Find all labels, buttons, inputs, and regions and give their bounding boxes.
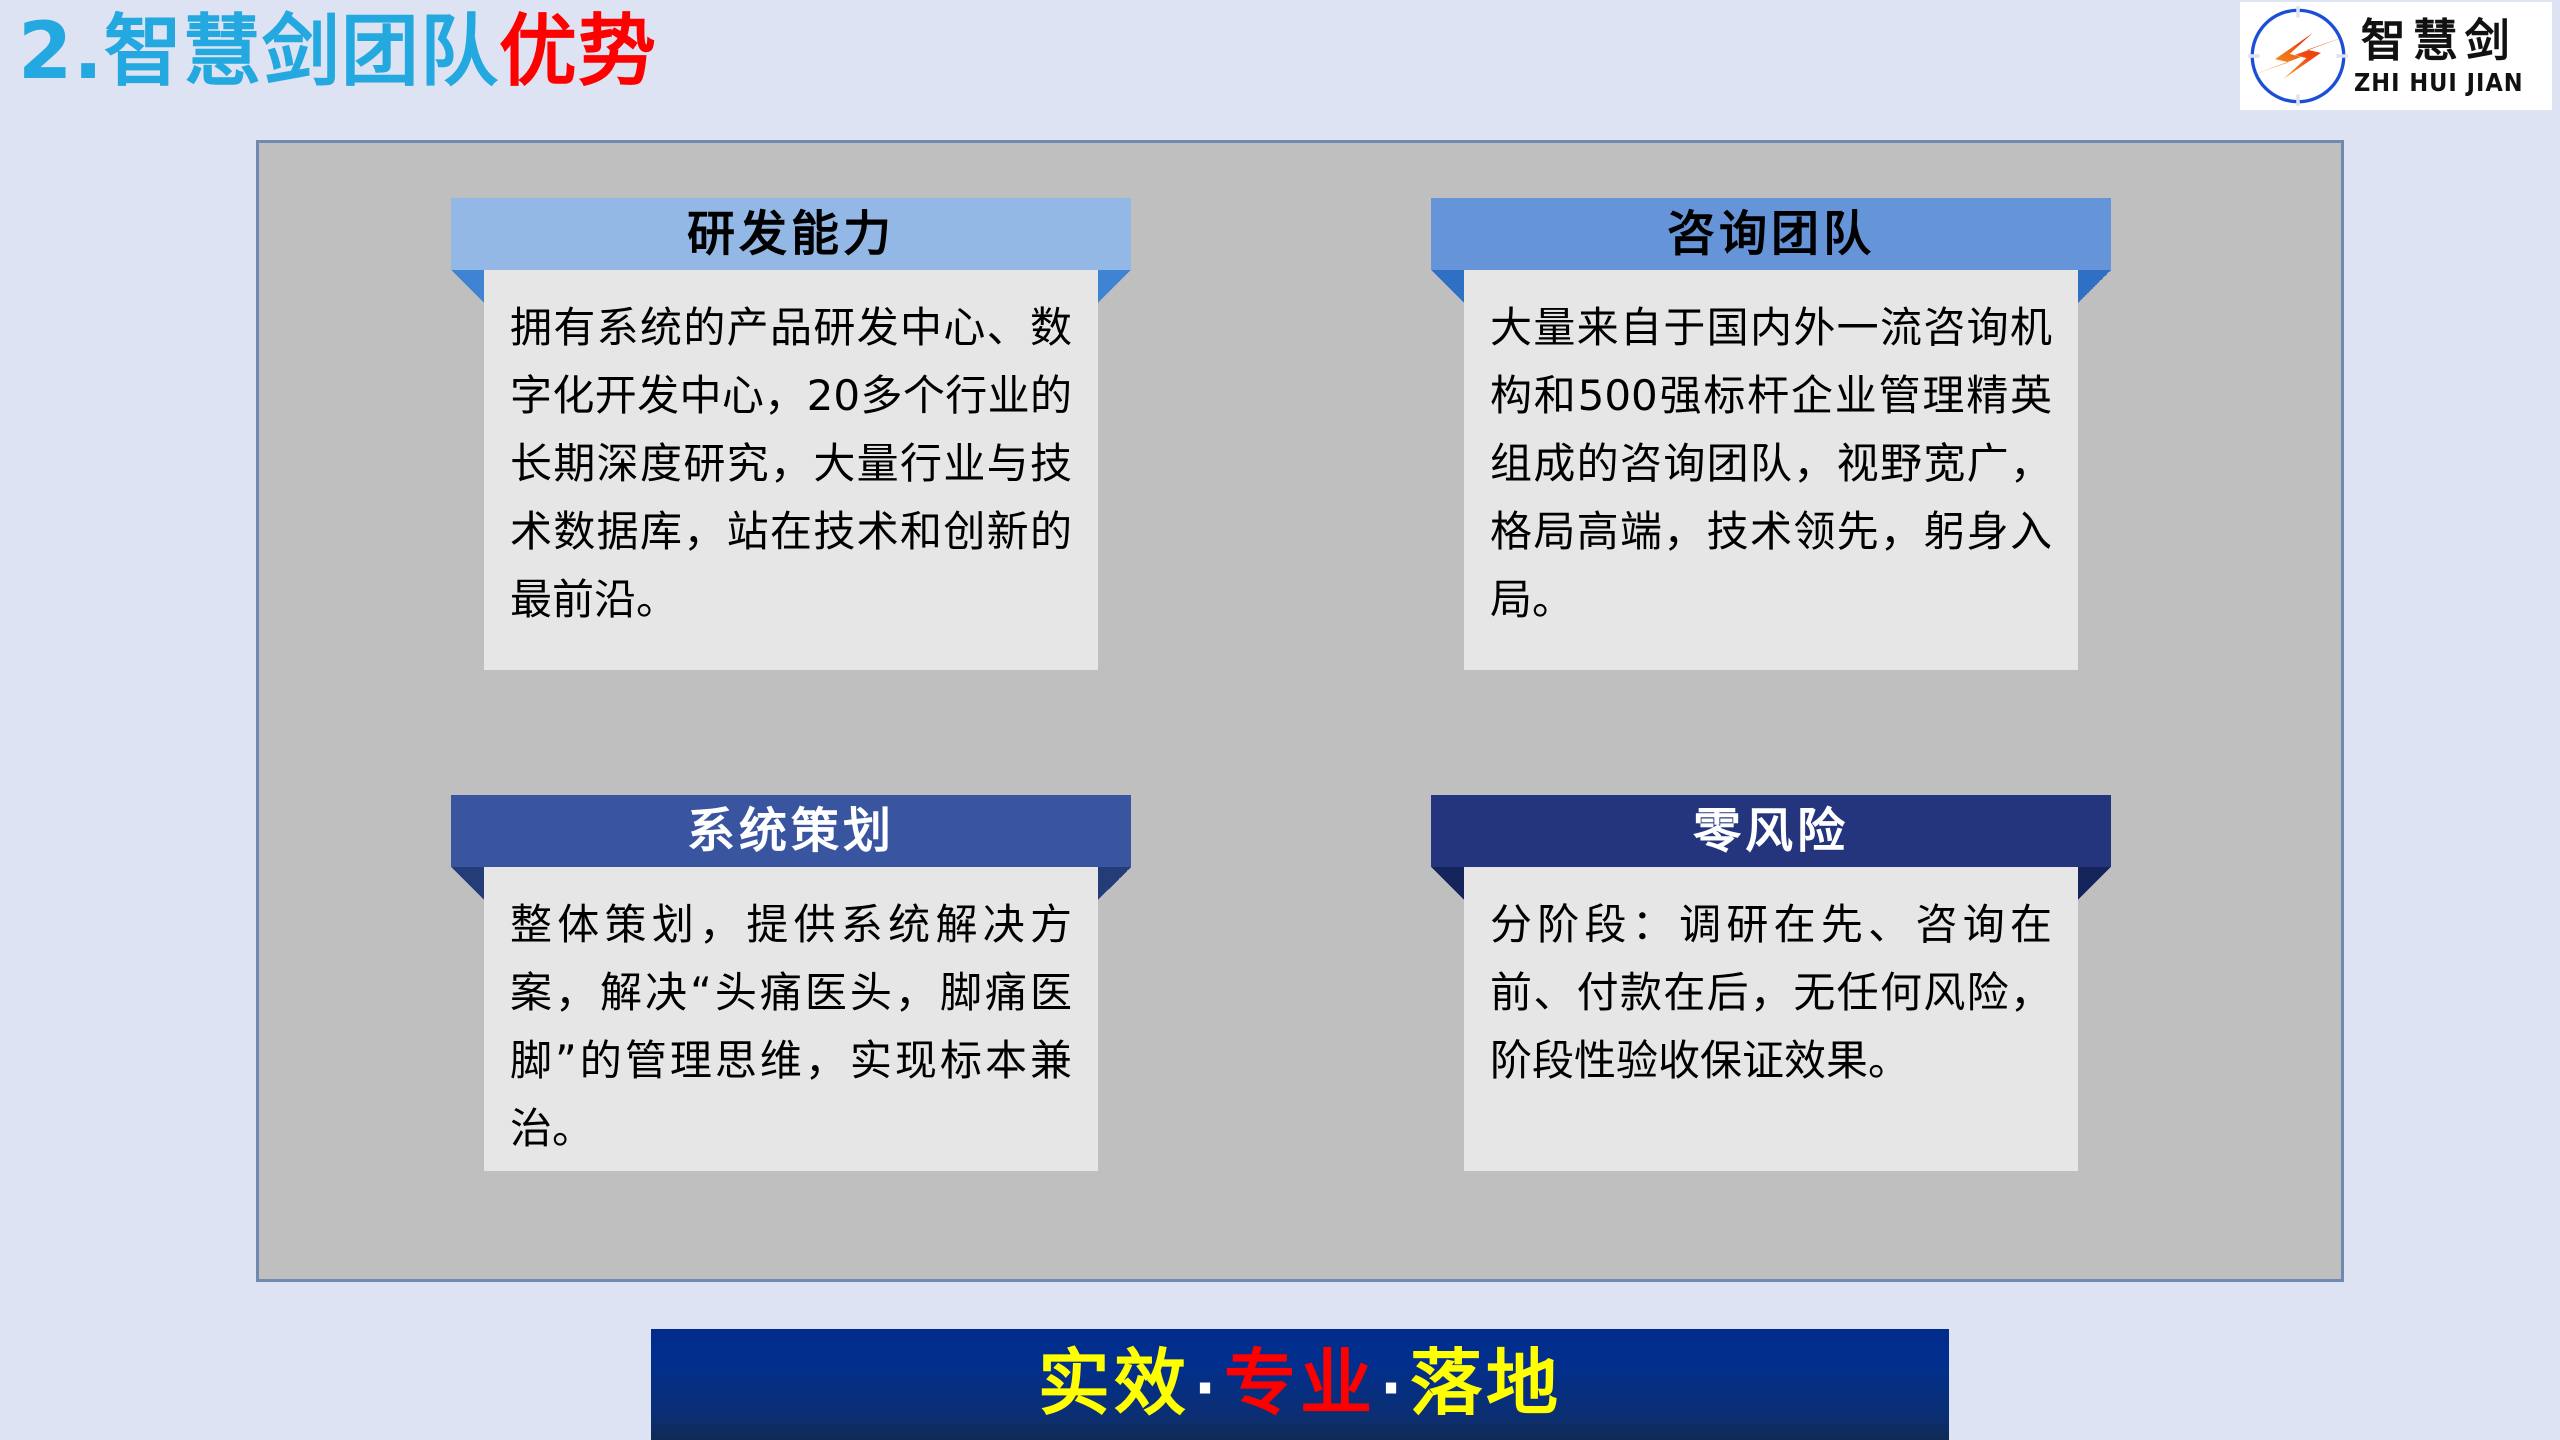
card-body-rd: 拥有系统的产品研发中心、数字化开发中心，20多个行业的长期深度研究，大量行业与技… xyxy=(484,270,1098,670)
card-body-text-zero-risk: 分阶段：调研在先、咨询在前、付款在后，无任何风险，阶段性验收保证效果。 xyxy=(1490,891,2052,1095)
ribbon-fold-left-icon xyxy=(1431,270,1464,303)
card-header-rd: 研发能力 xyxy=(451,198,1131,270)
card-title-consulting-team: 咨询团队 xyxy=(1667,210,1875,258)
advantage-card-consulting-team[interactable]: 咨询团队 大量来自于国内外一流咨询机构和500强标杆企业管理精英组成的咨询团队，… xyxy=(1431,198,2111,270)
slogan-separator-1: · xyxy=(1190,1354,1224,1422)
logo-chinese-name: 智慧剑 xyxy=(2361,18,2517,63)
advantage-card-grid: 研发能力 拥有系统的产品研发中心、数字化开发中心，20多个行业的长期深度研究，大… xyxy=(259,143,2341,1279)
ribbon-fold-right-icon xyxy=(1098,867,1131,900)
slogan-part-3: 落地 xyxy=(1410,1341,1562,1425)
card-body-system-planning: 整体策划，提供系统解决方案，解决“头痛医头，脚痛医脚”的管理思维，实现标本兼治。 xyxy=(484,867,1098,1171)
ribbon-fold-left-icon xyxy=(451,867,484,900)
company-logo: 智慧剑 ZHI HUI JIAN xyxy=(2240,2,2552,110)
ribbon-fold-right-icon xyxy=(2078,270,2111,303)
ribbon-fold-left-icon xyxy=(451,270,484,303)
page-title: 2.智慧剑团队优势 xyxy=(18,2,657,102)
card-header-system-planning: 系统策划 xyxy=(451,795,1131,867)
content-panel: 研发能力 拥有系统的产品研发中心、数字化开发中心，20多个行业的长期深度研究，大… xyxy=(256,140,2344,1282)
ribbon-fold-left-icon xyxy=(1431,867,1464,900)
card-body-text-rd: 拥有系统的产品研发中心、数字化开发中心，20多个行业的长期深度研究，大量行业与技… xyxy=(510,294,1072,634)
page-title-main: 智慧剑团队 xyxy=(104,7,499,97)
slogan-part-2: 专业 xyxy=(1224,1341,1376,1425)
card-body-consulting-team: 大量来自于国内外一流咨询机构和500强标杆企业管理精英组成的咨询团队，视野宽广，… xyxy=(1464,270,2078,670)
card-header-zero-risk: 零风险 xyxy=(1431,795,2111,867)
card-body-text-consulting-team: 大量来自于国内外一流咨询机构和500强标杆企业管理精英组成的咨询团队，视野宽广，… xyxy=(1490,294,2052,634)
slogan-part-1: 实效 xyxy=(1038,1341,1190,1425)
card-title-zero-risk: 零风险 xyxy=(1693,807,1849,855)
lightning-bolt-circle-icon xyxy=(2246,4,2350,108)
advantage-card-rd[interactable]: 研发能力 拥有系统的产品研发中心、数字化开发中心，20多个行业的长期深度研究，大… xyxy=(451,198,1131,270)
slogan-banner: 实效·专业·落地 xyxy=(651,1329,1949,1440)
slogan-text: 实效·专业·落地 xyxy=(1038,1347,1562,1419)
card-body-zero-risk: 分阶段：调研在先、咨询在前、付款在后，无任何风险，阶段性验收保证效果。 xyxy=(1464,867,2078,1171)
logo-pinyin-name: ZHI HUI JIAN xyxy=(2354,70,2524,95)
ribbon-fold-right-icon xyxy=(2078,867,2111,900)
page-title-accent: 优势 xyxy=(499,7,657,97)
logo-text-block: 智慧剑 ZHI HUI JIAN xyxy=(2354,18,2524,95)
ribbon-fold-right-icon xyxy=(1098,270,1131,303)
advantage-card-system-planning[interactable]: 系统策划 整体策划，提供系统解决方案，解决“头痛医头，脚痛医脚”的管理思维，实现… xyxy=(451,795,1131,867)
card-title-system-planning: 系统策划 xyxy=(687,807,895,855)
page-title-number: 2. xyxy=(18,7,104,97)
card-title-rd: 研发能力 xyxy=(687,210,895,258)
card-body-text-system-planning: 整体策划，提供系统解决方案，解决“头痛医头，脚痛医脚”的管理思维，实现标本兼治。 xyxy=(510,891,1072,1163)
slogan-separator-2: · xyxy=(1376,1354,1410,1422)
advantage-card-zero-risk[interactable]: 零风险 分阶段：调研在先、咨询在前、付款在后，无任何风险，阶段性验收保证效果。 xyxy=(1431,795,2111,867)
card-header-consulting-team: 咨询团队 xyxy=(1431,198,2111,270)
